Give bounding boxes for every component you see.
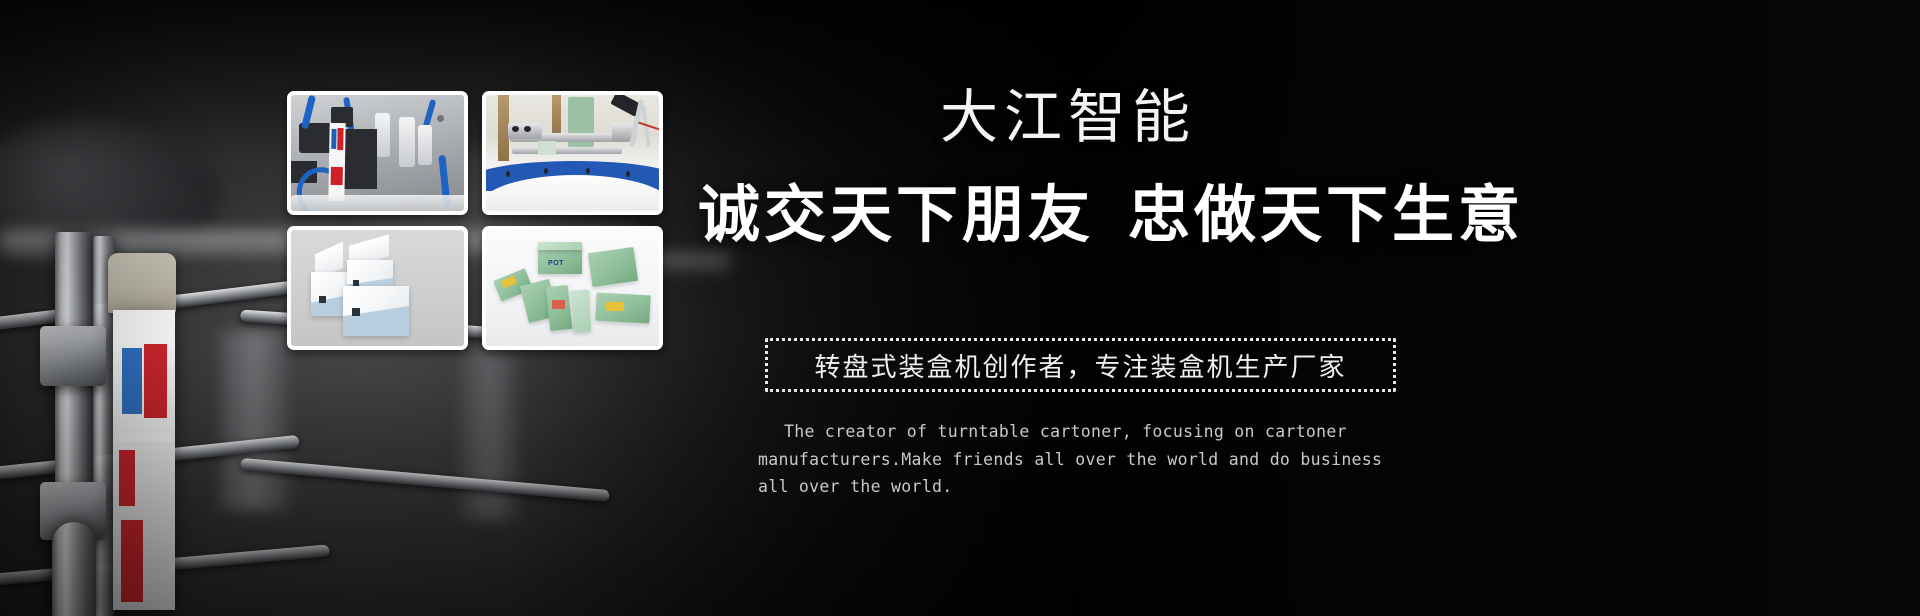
headline: 诚交天下朋友忠做天下生意 [698,182,1898,247]
white-carton [343,286,409,336]
headline-part-1: 诚交天下朋友 [698,178,1094,251]
english-paragraph: The creator of turntable cartoner, focus… [758,418,1408,501]
turntable-pin [626,171,630,177]
green-carton [571,290,591,333]
machine-cylinder [375,113,390,157]
headline-part-2: 忠做天下生意 [1128,178,1524,251]
gallery-item-green-cosmetic-cartons[interactable]: POT [482,226,663,350]
machine-cylinder [399,117,415,167]
brand-title: 大江智能 [940,88,1196,146]
carton-graphic [606,302,624,311]
carton-qr-code [352,308,360,316]
printed-carton [328,123,345,201]
green-carton [588,247,638,287]
gantry-beam [512,147,622,154]
tagline-box: 转盘式装盒机创作者，专注装盒机生产厂家 [765,338,1396,392]
gallery-image-white-pharma-cartons [291,230,464,346]
machine-plate [291,195,464,211]
hero-banner: POT 大江智能 诚交天下朋友忠做天下生意 转盘式装盒机创作者，专注装盒机生产厂… [0,0,1920,616]
english-line-2: manufacturers.Make friends all over the … [758,450,1382,469]
carton-qr-code [319,296,326,303]
machine-fitting [437,115,444,122]
carton-brand-text: POT [548,260,564,267]
gallery-image-cartoner-machine-closeup [291,95,464,211]
turntable-pin [506,171,510,177]
gallery-image-green-cosmetic-cartons: POT [486,230,659,346]
green-carton [538,242,582,250]
gripper-sensor [512,126,519,132]
gripper-sensor [524,126,531,132]
gallery-item-white-pharma-cartons[interactable] [287,226,468,350]
gallery-image-robot-arm-turntable [486,95,659,211]
tagline-text: 转盘式装盒机创作者，专注装盒机生产厂家 [814,347,1346,384]
machine-cylinder [418,125,432,165]
carton-graphic [552,300,565,309]
gallery-grid: POT [287,91,663,350]
gallery-item-robot-arm-turntable[interactable] [482,91,663,215]
carton-blue-mark [331,129,336,149]
carton-red-mark [337,128,343,150]
english-line-3: all over the world. [758,477,952,496]
cable [638,122,659,131]
turntable-pin [544,168,548,174]
green-carton [538,141,556,155]
gallery-item-cartoner-machine-closeup[interactable] [287,91,468,215]
english-line-1: The creator of turntable cartoner, focus… [784,422,1347,441]
carton-red-mark [331,167,343,185]
turntable-pin [586,168,590,174]
hero-copy: 大江智能 诚交天下朋友忠做天下生意 转盘式装盒机创作者，专注装盒机生产厂家 Th… [690,0,1920,616]
